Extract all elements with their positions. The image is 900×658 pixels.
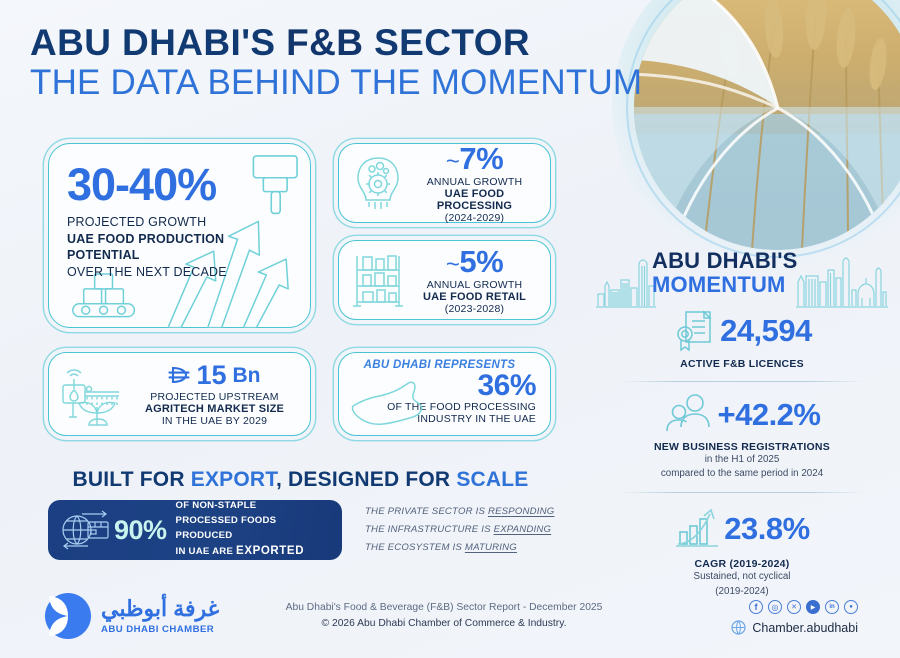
registrations-sub-1: in the H1 of 2025: [596, 453, 888, 467]
uae-map-outline-icon: [349, 379, 433, 429]
export-panel-text: OF NON-STAPLE PROCESSED FOODS PRODUCED I…: [176, 499, 336, 561]
globe-shipping-box-icon: [58, 507, 112, 553]
momentum-stat-registrations: +42.2% NEW BUSINESS REGISTRATIONS in the…: [596, 393, 888, 481]
card-food-retail: ~5% ANNUAL GROWTH UAE FOOD RETAIL (2023-…: [338, 240, 551, 320]
export-note-2: THE INFRASTRUCTURE IS EXPANDING: [365, 521, 565, 539]
production-label-2: UAE FOOD PRODUCTION: [67, 231, 310, 248]
card-food-production-body: 30-40% PROJECTED GROWTH UAE FOOD PRODUCT…: [49, 144, 310, 280]
retail-text: ~5% ANNUAL GROWTH UAE FOOD RETAIL (2023-…: [409, 246, 540, 315]
production-label-4: OVER THE NEXT DECADE: [67, 264, 310, 281]
retail-icon-box: [347, 250, 409, 310]
cagr-value: 23.8%: [724, 513, 809, 544]
retail-label-2: UAE FOOD RETAIL: [409, 291, 540, 303]
processing-tilde: ~: [446, 148, 460, 175]
chamber-logo-english: ABU DHABI CHAMBER: [101, 624, 219, 635]
momentum-header: ABU DHABI'S MOMENTUM: [596, 246, 888, 308]
retail-label-3: (2023-2028): [409, 303, 540, 315]
agritech-label-2: AGRITECH MARKET SIZE: [129, 403, 300, 415]
chamber-logo-text: غرفة أبوظبي ABU DHABI CHAMBER: [101, 598, 219, 635]
headline-line-1-c: SECTOR: [363, 22, 530, 63]
retail-number: 5%: [459, 244, 503, 279]
export-note-1-underlined: RESPONDING: [488, 506, 555, 517]
processing-value: ~7%: [409, 143, 540, 174]
bar-chart-growth-arrow-icon: [674, 504, 722, 552]
export-panel-line-2: PROCESSED FOODS PRODUCED: [176, 514, 336, 544]
agritech-value: 15 Bn: [129, 362, 300, 389]
uae-dirham-symbol-icon: [168, 365, 190, 385]
export-icon-box: [56, 507, 114, 553]
cagr-sub-1: Sustained, not cyclical: [596, 570, 888, 584]
registrations-caption: NEW BUSINESS REGISTRATIONS: [596, 441, 888, 453]
headline-line-2: THE DATA BEHIND THE MOMENTUM: [30, 63, 642, 104]
export-title-c: , DESIGNED FOR: [276, 468, 456, 491]
registrations-sub-2: compared to the same period in 2024: [596, 467, 888, 481]
licences-value: 24,594: [720, 315, 812, 346]
agritech-unit: Bn: [233, 365, 261, 386]
agritech-label-3: IN THE UAE BY 2029: [129, 415, 300, 427]
abu-dhabi-chamber-logo: غرفة أبوظبي ABU DHABI CHAMBER: [44, 592, 219, 640]
x-twitter-icon[interactable]: ✕: [787, 600, 801, 614]
whatsapp-icon[interactable]: ●: [844, 600, 858, 614]
chamber-logo-arabic: غرفة أبوظبي: [101, 598, 219, 620]
processing-number: 7%: [459, 141, 503, 176]
footer-credit: Abu Dhabi's Food & Beverage (F&B) Sector…: [246, 600, 642, 633]
registrations-value: +42.2%: [717, 399, 820, 430]
momentum-title-1: ABU DHABI'S: [652, 248, 798, 274]
momentum-stat-licences: 24,594 ACTIVE F&B LICENCES: [596, 308, 888, 370]
card-processing-share: ABU DHABI REPRESENTS 36% OF THE FOOD PRO…: [338, 352, 551, 436]
licence-certificate-icon: [672, 308, 718, 352]
divider-2: [620, 492, 864, 493]
export-panel-exported: EXPORTED: [236, 545, 304, 557]
agritech-text: 15 Bn PROJECTED UPSTREAM AGRITECH MARKET…: [129, 362, 300, 427]
processing-label-2: UAE FOOD PROCESSING: [409, 188, 540, 212]
export-note-1-plain: THE PRIVATE SECTOR IS: [365, 506, 488, 517]
cagr-row: 23.8%: [596, 504, 888, 552]
headline-fb: F&B: [286, 22, 363, 63]
export-note-2-plain: THE INFRASTRUCTURE IS: [365, 524, 494, 535]
footer-line-2: © 2026 Abu Dhabi Chamber of Commerce & I…: [246, 616, 642, 632]
hero-petal-mask: [634, 0, 900, 250]
momentum-title-2: MOMENTUM: [652, 272, 786, 298]
retail-shelf-icon: [349, 250, 407, 310]
card-agritech-market: 15 Bn PROJECTED UPSTREAM AGRITECH MARKET…: [48, 352, 311, 436]
momentum-stat-cagr: 23.8% CAGR (2019-2024) Sustained, not cy…: [596, 504, 888, 598]
export-note-3: THE ECOSYSTEM IS MATURING: [365, 539, 565, 557]
export-notes-list: THE PRIVATE SECTOR IS RESPONDING THE INF…: [365, 503, 565, 557]
smart-irrigation-plant-icon: [57, 359, 127, 429]
export-note-3-plain: THE ECOSYSTEM IS: [365, 542, 465, 553]
card-food-processing: ~7% ANNUAL GROWTH UAE FOOD PROCESSING (2…: [338, 143, 551, 223]
export-section-title: BUILT FOR EXPORT, DESIGNED FOR SCALE: [48, 468, 553, 492]
production-labels: PROJECTED GROWTH UAE FOOD PRODUCTION POT…: [67, 214, 310, 280]
social-links[interactable]: f ◎ ✕ ▶ in ●: [749, 600, 858, 614]
processing-icon-box: [347, 154, 409, 212]
registrations-row: +42.2%: [596, 393, 888, 435]
export-panel-line-3-a: IN UAE ARE: [176, 546, 237, 557]
momentum-section: ABU DHABI'S MOMENTUM: [596, 246, 888, 599]
cagr-sub-2: (2019-2024): [596, 585, 888, 599]
export-percent: 90%: [114, 515, 167, 546]
infographic-page: ABU DHABI'S F&B SECTOR THE DATA BEHIND T…: [0, 0, 900, 658]
agritech-label-1: PROJECTED UPSTREAM: [129, 391, 300, 403]
chamber-logo-mark-icon: [44, 592, 92, 640]
processing-text: ~7% ANNUAL GROWTH UAE FOOD PROCESSING (2…: [409, 143, 540, 224]
people-group-icon: [663, 393, 715, 435]
headline-line-1: ABU DHABI'S F&B SECTOR: [30, 22, 642, 63]
hero-wheat-image: [612, 0, 900, 272]
cagr-caption: CAGR (2019-2024): [596, 558, 888, 570]
export-stat-panel: 90% OF NON-STAPLE PROCESSED FOODS PRODUC…: [48, 500, 342, 560]
retail-tilde: ~: [446, 251, 460, 278]
card-food-production: 30-40% PROJECTED GROWTH UAE FOOD PRODUCT…: [48, 143, 311, 328]
page-title: ABU DHABI'S F&B SECTOR THE DATA BEHIND T…: [30, 22, 642, 104]
divider-1: [620, 381, 864, 382]
instagram-icon[interactable]: ◎: [768, 600, 782, 614]
licences-row: 24,594: [596, 308, 888, 352]
website-text: Chamber.abudhabi: [752, 621, 858, 635]
export-note-3-underlined: MATURING: [465, 542, 517, 553]
export-note-1: THE PRIVATE SECTOR IS RESPONDING: [365, 503, 565, 521]
processing-label-3: (2024-2029): [409, 212, 540, 224]
export-title-export: EXPORT: [191, 468, 276, 491]
production-label-3: POTENTIAL: [67, 247, 310, 264]
headline-line-1-a: ABU DHABI'S: [30, 22, 286, 63]
facebook-icon[interactable]: f: [749, 600, 763, 614]
processing-label-1: ANNUAL GROWTH: [409, 176, 540, 188]
export-panel-line-3: IN UAE ARE EXPORTED: [176, 543, 336, 561]
abu-dhabi-skyline-right-icon: [796, 256, 888, 308]
production-value: 30-40%: [67, 162, 310, 207]
export-title-a: BUILT FOR: [72, 468, 190, 491]
agritech-icon-box: [55, 359, 129, 429]
youtube-icon[interactable]: ▶: [806, 600, 820, 614]
agritech-number: 15: [196, 362, 226, 389]
food-processing-gear-icon: [352, 154, 404, 212]
licences-caption: ACTIVE F&B LICENCES: [596, 358, 888, 370]
retail-label-1: ANNUAL GROWTH: [409, 279, 540, 291]
export-title-scale: SCALE: [456, 468, 528, 491]
website-link[interactable]: Chamber.abudhabi: [731, 620, 858, 635]
abu-dhabi-skyline-icon: [596, 256, 656, 308]
footer-line-1: Abu Dhabi's Food & Beverage (F&B) Sector…: [246, 600, 642, 616]
retail-value: ~5%: [409, 246, 540, 277]
linkedin-icon[interactable]: in: [825, 600, 839, 614]
export-note-2-underlined: EXPANDING: [494, 524, 552, 535]
globe-icon: [731, 620, 746, 635]
production-label-1: PROJECTED GROWTH: [67, 214, 310, 231]
export-panel-line-1: OF NON-STAPLE: [176, 499, 336, 514]
